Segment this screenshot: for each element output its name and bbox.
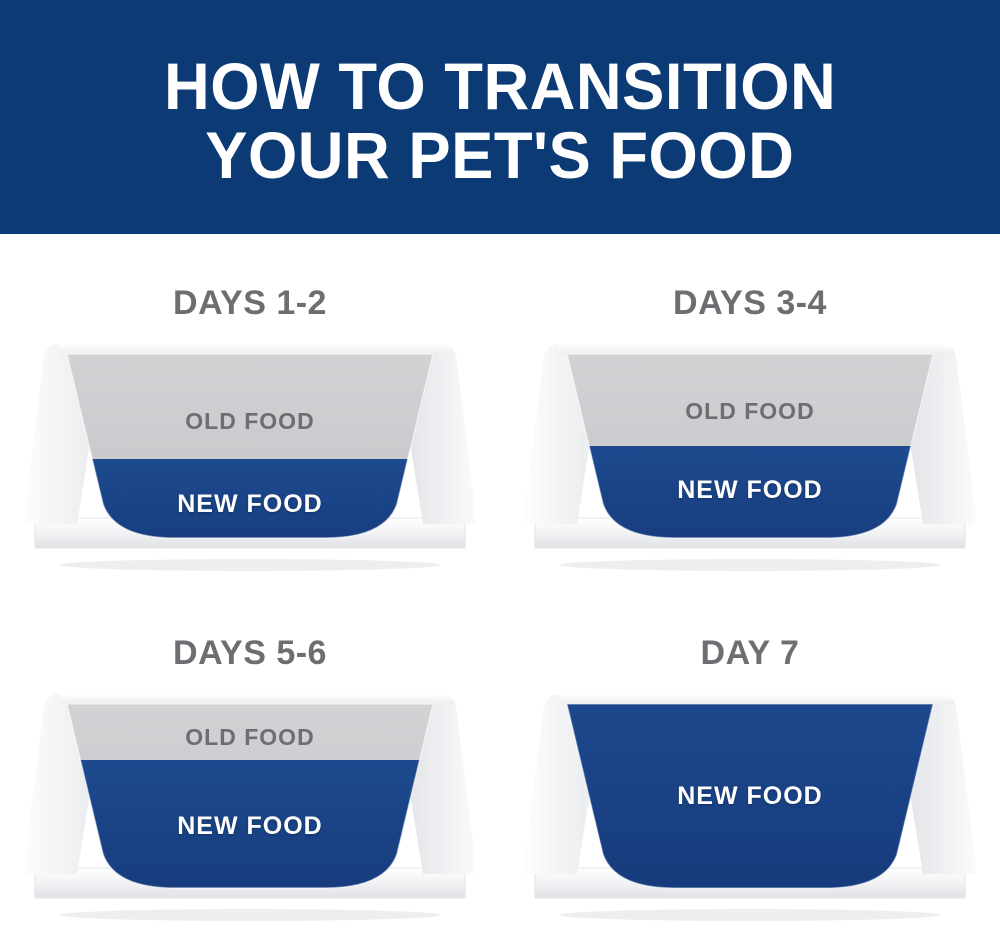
header-banner: HOW TO TRANSITION YOUR PET'S FOOD <box>0 0 1000 234</box>
step-title-day-7: DAY 7 <box>701 636 800 670</box>
step-card-day-7: DAY 7 <box>500 584 1000 934</box>
bowl-illustration-days-1-2 <box>25 332 475 572</box>
pet-bowl-days-5-6: OLD FOOD NEW FOOD <box>25 682 475 922</box>
infographic-page: HOW TO TRANSITION YOUR PET'S FOOD DAYS 1… <box>0 0 1000 934</box>
pet-bowl-days-1-2: OLD FOOD NEW FOOD <box>25 332 475 572</box>
step-title-days-5-6: DAYS 5-6 <box>173 636 327 670</box>
step-card-days-3-4: DAYS 3-4 <box>500 234 1000 584</box>
step-card-days-5-6: DAYS 5-6 <box>0 584 500 934</box>
bowl-illustration-days-5-6 <box>25 682 475 922</box>
step-title-days-1-2: DAYS 1-2 <box>173 286 327 320</box>
page-title-line-2: YOUR PET'S FOOD <box>205 121 794 190</box>
pet-bowl-days-3-4: OLD FOOD NEW FOOD <box>525 332 975 572</box>
bowl-illustration-day-7 <box>525 682 975 922</box>
steps-grid: DAYS 1-2 <box>0 234 1000 934</box>
step-title-days-3-4: DAYS 3-4 <box>673 286 827 320</box>
page-title-line-1: HOW TO TRANSITION <box>164 52 836 121</box>
step-card-days-1-2: DAYS 1-2 <box>0 234 500 584</box>
pet-bowl-day-7: NEW FOOD <box>525 682 975 922</box>
bowl-illustration-days-3-4 <box>525 332 975 572</box>
